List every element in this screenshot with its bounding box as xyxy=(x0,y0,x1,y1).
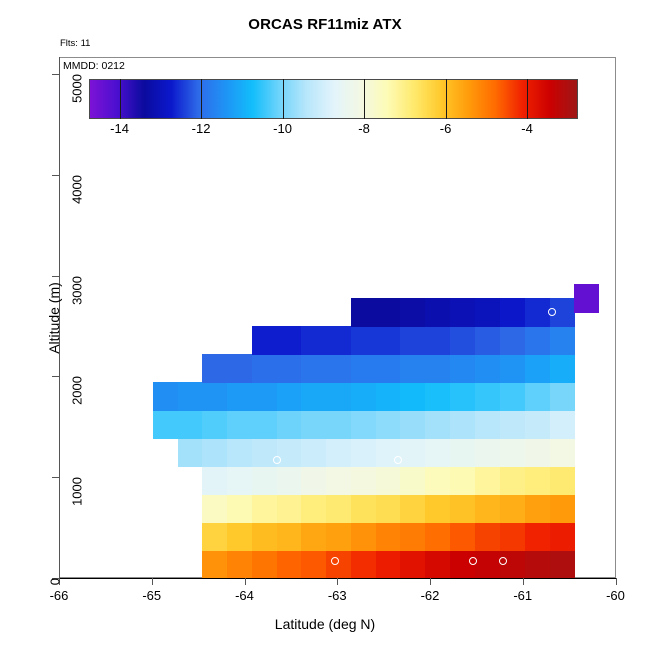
y-axis-tick xyxy=(52,74,59,75)
colorbar-tick-label: -8 xyxy=(358,121,370,136)
x-axis-tick xyxy=(337,578,338,585)
y-axis-label: Altitude (m) xyxy=(46,218,62,418)
colorbar-tick-label: -14 xyxy=(110,121,129,136)
x-axis-tick-label: -60 xyxy=(606,588,625,603)
colorbar-tick xyxy=(201,79,202,119)
colorbar-tick xyxy=(120,79,121,119)
y-axis-tick-label: 0 xyxy=(48,578,63,585)
x-axis-label: Latitude (deg N) xyxy=(0,616,650,632)
page-title: ORCAS RF11miz ATX xyxy=(0,16,650,33)
x-axis-tick-label: -64 xyxy=(235,588,254,603)
x-axis-tick xyxy=(245,578,246,585)
mmdd-annotation: MMDD: 0212 xyxy=(63,60,125,72)
colorbar: -14-12-10-8-6-4 xyxy=(89,79,578,141)
y-axis-tick-label: 1000 xyxy=(69,477,84,506)
colorbar-tick-label: -4 xyxy=(521,121,533,136)
y-axis-tick xyxy=(52,477,59,478)
y-axis-tick-label: 2000 xyxy=(69,376,84,405)
x-axis-tick xyxy=(152,578,153,585)
x-axis-tick xyxy=(430,578,431,585)
colorbar-gradient xyxy=(89,79,578,119)
x-axis-tick-label: -62 xyxy=(421,588,440,603)
y-axis-tick xyxy=(52,175,59,176)
colorbar-tick xyxy=(527,79,528,119)
x-axis-tick-label: -66 xyxy=(50,588,69,603)
colorbar-tick xyxy=(283,79,284,119)
colorbar-tick-label: -12 xyxy=(192,121,211,136)
colorbar-tick-label: -10 xyxy=(273,121,292,136)
flights-annotation: Flts: 11 xyxy=(60,38,90,49)
x-axis-tick-label: -61 xyxy=(513,588,532,603)
x-axis-tick xyxy=(523,578,524,585)
y-axis-tick-label: 4000 xyxy=(69,175,84,204)
chart-root: ORCAS RF11miz ATX Flts: 11 MMDD: 0212 -1… xyxy=(0,0,650,650)
colorbar-tick xyxy=(364,79,365,119)
x-axis-tick-label: -65 xyxy=(142,588,161,603)
colorbar-tick-label: -6 xyxy=(440,121,452,136)
x-axis-tick-label: -63 xyxy=(328,588,347,603)
x-axis-tick xyxy=(616,578,617,585)
y-axis-tick-label: 5000 xyxy=(69,74,84,103)
y-axis-tick-label: 3000 xyxy=(69,276,84,305)
colorbar-tick xyxy=(446,79,447,119)
